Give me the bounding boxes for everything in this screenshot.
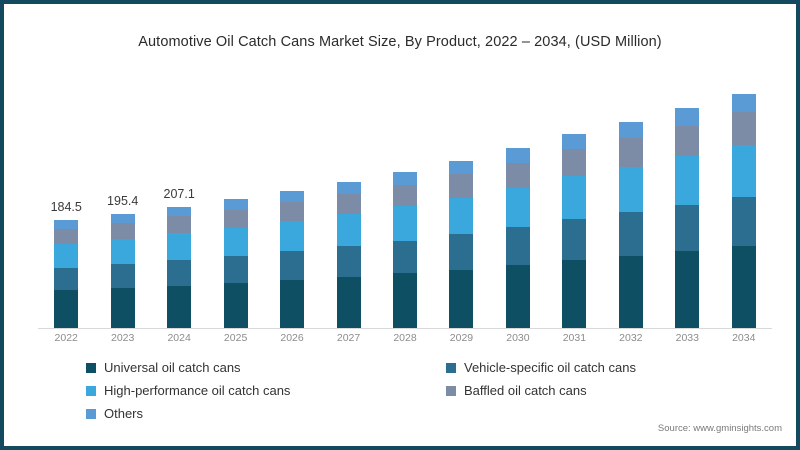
bar-segment[interactable] (280, 191, 304, 202)
x-axis-tick-2030: 2030 (506, 332, 529, 344)
x-axis-tick-2034: 2034 (732, 332, 755, 344)
bar-segment[interactable] (675, 156, 699, 204)
bar-segment[interactable] (449, 198, 473, 235)
bar-stack (167, 207, 191, 328)
bar-segment[interactable] (506, 188, 530, 228)
bar-segment[interactable] (54, 268, 78, 291)
bar-segment[interactable] (111, 264, 135, 288)
bar-segment[interactable] (111, 288, 135, 328)
bar-segment[interactable] (562, 134, 586, 150)
bar-stack (224, 199, 248, 328)
bar-segment[interactable] (506, 227, 530, 265)
bar-segment[interactable] (449, 234, 473, 269)
chart-legend: Universal oil catch cansHigh-performance… (86, 359, 726, 422)
bar-segment[interactable] (449, 174, 473, 197)
bar-segment[interactable] (54, 229, 78, 244)
bar-segment[interactable] (280, 202, 304, 221)
x-axis-tick-2023: 2023 (111, 332, 134, 344)
bar-segment[interactable] (54, 244, 78, 268)
bar-segment[interactable] (337, 246, 361, 277)
bar-segment[interactable] (280, 280, 304, 328)
bar-segment[interactable] (167, 260, 191, 285)
bar-group[interactable] (54, 220, 78, 328)
bar-segment[interactable] (562, 219, 586, 260)
x-axis-tick-2024: 2024 (167, 332, 190, 344)
legend-swatch-icon (446, 386, 456, 396)
bar-segment[interactable] (732, 112, 756, 145)
legend-swatch-icon (86, 409, 96, 419)
legend-label: Baffled oil catch cans (464, 383, 587, 398)
bar-segment[interactable] (280, 251, 304, 280)
bar-group[interactable] (167, 207, 191, 328)
bar-group[interactable] (562, 134, 586, 328)
bar-segment[interactable] (111, 214, 135, 223)
bar-segment[interactable] (337, 194, 361, 214)
legend-item[interactable]: High-performance oil catch cans (86, 382, 446, 399)
bar-segment[interactable] (619, 138, 643, 167)
bar-segment[interactable] (732, 94, 756, 113)
bar-segment[interactable] (337, 277, 361, 328)
bar-group[interactable] (224, 199, 248, 328)
legend-label: Vehicle-specific oil catch cans (464, 360, 636, 375)
bar-segment[interactable] (224, 228, 248, 256)
x-axis-tick-2031: 2031 (563, 332, 586, 344)
legend-label: Universal oil catch cans (104, 360, 241, 375)
bar-segment[interactable] (167, 286, 191, 328)
x-axis-tick-2029: 2029 (450, 332, 473, 344)
legend-item[interactable]: Vehicle-specific oil catch cans (446, 359, 726, 376)
bar-segment[interactable] (562, 260, 586, 328)
bar-segment[interactable] (393, 241, 417, 274)
bar-group[interactable] (619, 122, 643, 328)
source-attribution: Source: www.gminsights.com (658, 423, 782, 434)
bar-segment[interactable] (449, 161, 473, 174)
bar-stack (449, 161, 473, 328)
legend-swatch-icon (86, 363, 96, 373)
bar-segment[interactable] (619, 167, 643, 212)
bar-segment[interactable] (280, 221, 304, 251)
bar-segment[interactable] (675, 205, 699, 251)
bar-segment[interactable] (111, 239, 135, 264)
bar-segment[interactable] (506, 163, 530, 188)
bar-stack (111, 214, 135, 328)
bar-segment[interactable] (393, 273, 417, 328)
bar-segment[interactable] (111, 223, 135, 239)
legend-label: High-performance oil catch cans (104, 383, 290, 398)
bar-group[interactable] (506, 148, 530, 328)
bar-stack (54, 220, 78, 328)
bar-segment[interactable] (54, 220, 78, 229)
x-axis-tick-labels: 2022202320242025202620272028202920302031… (38, 332, 772, 350)
legend-item[interactable]: Baffled oil catch cans (446, 382, 726, 399)
x-axis-tick-2026: 2026 (280, 332, 303, 344)
bar-segment[interactable] (619, 212, 643, 255)
bar-group[interactable] (111, 214, 135, 328)
bar-group[interactable] (393, 172, 417, 328)
bar-segment[interactable] (393, 185, 417, 207)
bar-value-label: 184.5 (51, 200, 82, 214)
bar-segment[interactable] (337, 214, 361, 246)
bar-segment[interactable] (224, 199, 248, 209)
x-axis-baseline (38, 328, 772, 329)
bar-segment[interactable] (506, 148, 530, 162)
bar-segment[interactable] (393, 206, 417, 240)
bar-segment[interactable] (675, 251, 699, 328)
bar-segment[interactable] (675, 108, 699, 126)
x-axis-tick-2028: 2028 (393, 332, 416, 344)
x-axis-tick-2033: 2033 (676, 332, 699, 344)
legend-column-left: Universal oil catch cansHigh-performance… (86, 359, 446, 422)
bar-stack (562, 134, 586, 328)
bar-segment[interactable] (732, 145, 756, 197)
bar-value-label: 195.4 (107, 194, 138, 208)
x-axis-tick-2032: 2032 (619, 332, 642, 344)
bar-segment[interactable] (167, 216, 191, 233)
legend-column-right: Vehicle-specific oil catch cansBaffled o… (446, 359, 726, 422)
bar-stack (619, 122, 643, 328)
bar-segment[interactable] (224, 210, 248, 228)
bar-group[interactable] (337, 182, 361, 328)
bar-group[interactable] (280, 191, 304, 328)
bar-segment[interactable] (732, 197, 756, 246)
bar-segment[interactable] (675, 126, 699, 157)
legend-item[interactable]: Others (86, 405, 446, 422)
bar-stack (280, 191, 304, 328)
bar-segment[interactable] (393, 172, 417, 184)
x-axis-tick-2027: 2027 (337, 332, 360, 344)
legend-item[interactable]: Universal oil catch cans (86, 359, 446, 376)
bar-segment[interactable] (562, 176, 586, 219)
bar-stack (675, 108, 699, 328)
bar-value-label: 207.1 (164, 187, 195, 201)
bar-segment[interactable] (506, 265, 530, 328)
bar-segment[interactable] (167, 207, 191, 217)
x-axis-tick-2022: 2022 (55, 332, 78, 344)
bar-stack (393, 172, 417, 328)
bar-segment[interactable] (167, 233, 191, 260)
chart-figure: Automotive Oil Catch Cans Market Size, B… (0, 0, 800, 450)
bar-group[interactable] (449, 161, 473, 328)
bar-group[interactable] (675, 108, 699, 328)
bar-segment[interactable] (337, 182, 361, 194)
bar-stack (506, 148, 530, 328)
plot-area: 184.5195.4207.1 (38, 82, 772, 328)
bar-stack (337, 182, 361, 328)
legend-swatch-icon (86, 386, 96, 396)
bar-segment[interactable] (224, 283, 248, 328)
bar-segment[interactable] (562, 149, 586, 176)
bar-segment[interactable] (619, 256, 643, 328)
bar-segment[interactable] (54, 290, 78, 328)
legend-label: Others (104, 406, 143, 421)
chart-title: Automotive Oil Catch Cans Market Size, B… (4, 34, 796, 50)
bar-segment[interactable] (224, 256, 248, 283)
bar-segment[interactable] (732, 246, 756, 328)
x-axis-tick-2025: 2025 (224, 332, 247, 344)
legend-swatch-icon (446, 363, 456, 373)
bar-stack (732, 94, 756, 328)
bar-segment[interactable] (619, 122, 643, 139)
bar-group[interactable] (732, 94, 756, 328)
bar-segment[interactable] (449, 270, 473, 329)
